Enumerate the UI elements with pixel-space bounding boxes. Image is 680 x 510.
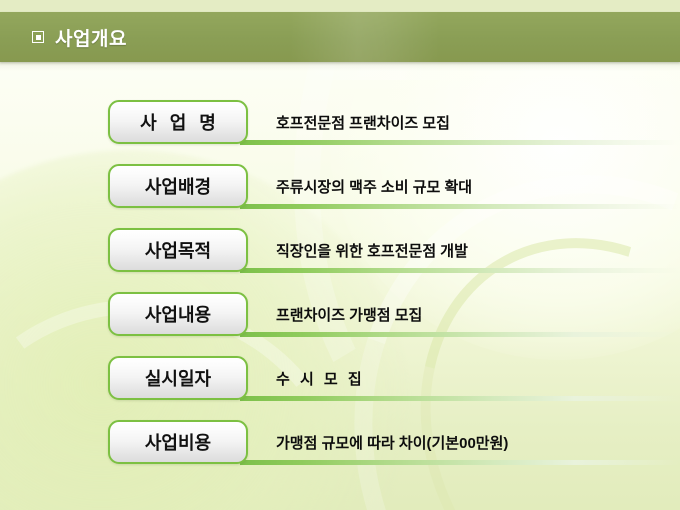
row-label-text: 사업목적 <box>145 237 211 263</box>
content-row: 사업목적 직장인을 위한 호프전문점 개발 <box>0 228 680 274</box>
row-label-box: 실시일자 <box>108 356 248 400</box>
content-row: 사업내용 프랜차이즈 가맹점 모집 <box>0 292 680 338</box>
presentation-slide: 사업개요 사 업 명 호프전문점 프랜차이즈 모집 사업배경 주류시장의 맥주 … <box>0 0 680 510</box>
row-label-text: 사 업 명 <box>136 109 220 135</box>
row-label-text: 사업비용 <box>145 429 211 455</box>
content-row: 실시일자 수 시 모 집 <box>0 356 680 402</box>
row-label-text: 사업배경 <box>145 173 211 199</box>
row-label-box: 사업목적 <box>108 228 248 272</box>
content-row: 사 업 명 호프전문점 프랜차이즈 모집 <box>0 100 680 146</box>
row-value-text: 직장인을 위한 호프전문점 개발 <box>276 228 468 272</box>
content-row: 사업배경 주류시장의 맥주 소비 규모 확대 <box>0 164 680 210</box>
row-value-text: 호프전문점 프랜차이즈 모집 <box>276 100 450 144</box>
row-value-text: 가맹점 규모에 따라 차이(기본00만원) <box>276 420 508 464</box>
row-label-box: 사업배경 <box>108 164 248 208</box>
row-label-text: 실시일자 <box>145 365 211 391</box>
row-label-text: 사업내용 <box>145 301 211 327</box>
row-label-box: 사업내용 <box>108 292 248 336</box>
row-value-text: 수 시 모 집 <box>276 356 365 400</box>
content-row: 사업비용 가맹점 규모에 따라 차이(기본00만원) <box>0 420 680 466</box>
row-label-box: 사 업 명 <box>108 100 248 144</box>
content-rows: 사 업 명 호프전문점 프랜차이즈 모집 사업배경 주류시장의 맥주 소비 규모… <box>0 0 680 510</box>
row-value-text: 주류시장의 맥주 소비 규모 확대 <box>276 164 472 208</box>
row-value-text: 프랜차이즈 가맹점 모집 <box>276 292 422 336</box>
row-label-box: 사업비용 <box>108 420 248 464</box>
